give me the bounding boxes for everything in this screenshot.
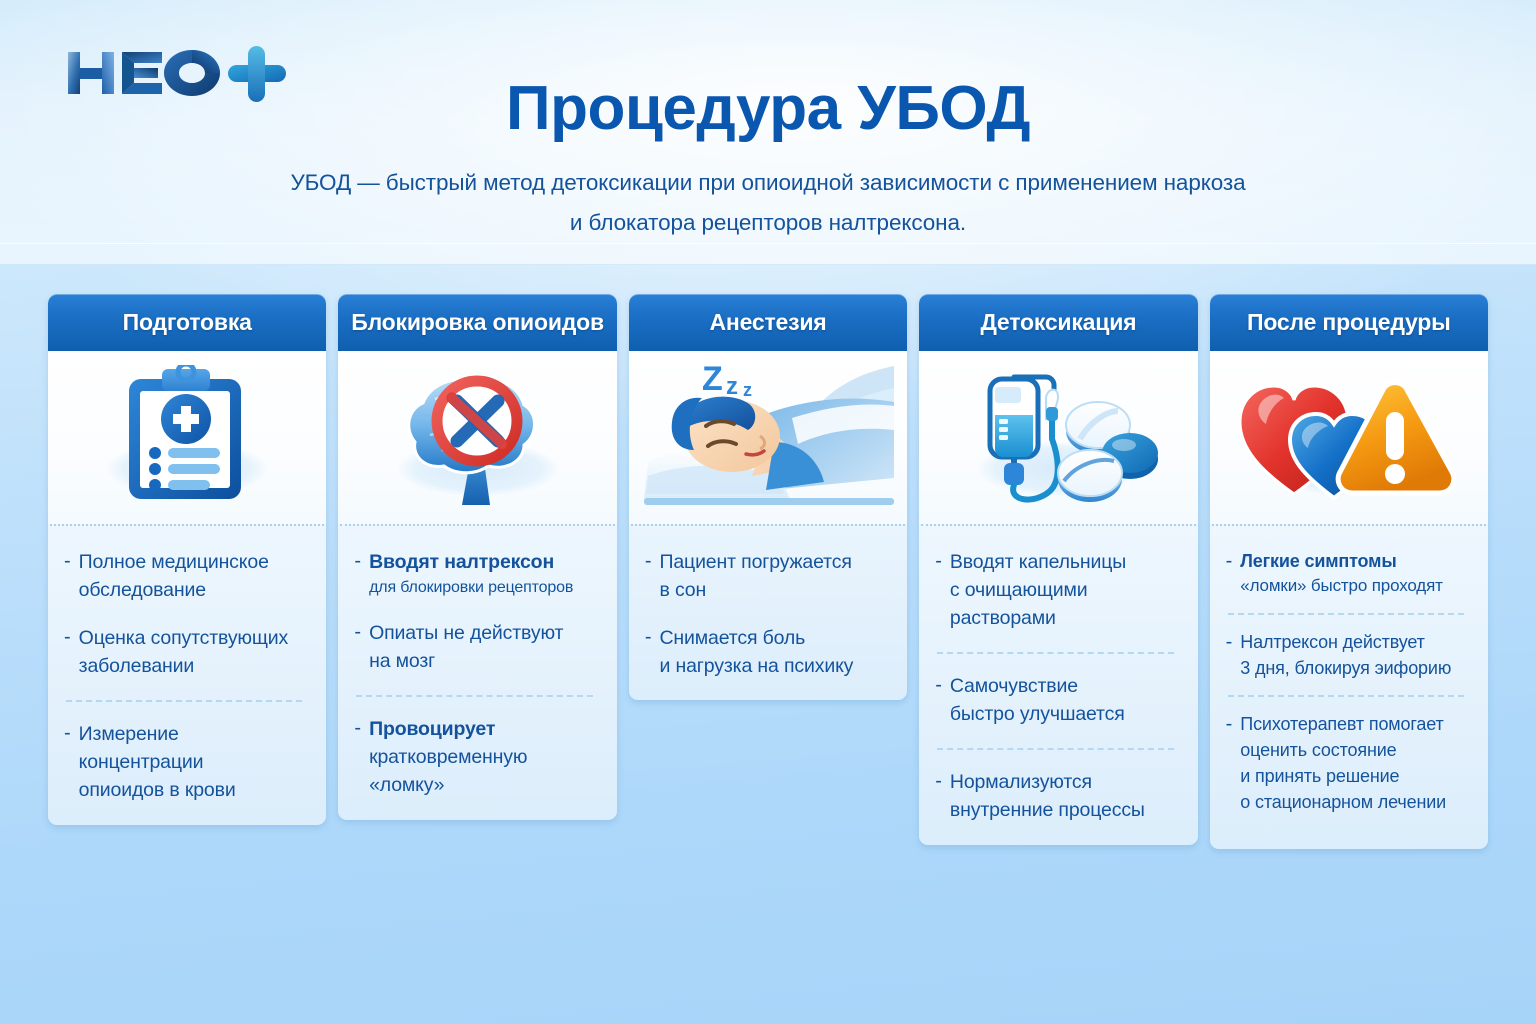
list-item: - Снимается боль и нагрузка на психику: [645, 624, 889, 680]
header-divider-line-secondary: [0, 264, 1536, 265]
bullet-marker: -: [1226, 548, 1233, 576]
subtitle-line-1: УБОД — быстрый метод детоксикации при оп…: [0, 163, 1536, 203]
list-item: - Легкие симптомы «ломки» быстро проходя…: [1226, 548, 1470, 599]
list-item: - Вводят налтрексон для блокировки рецеп…: [354, 548, 598, 599]
list-item-text: Снимается боль и нагрузка на психику: [659, 624, 853, 680]
card-title: Детоксикация: [980, 309, 1136, 336]
list-item-text: Опиаты не действуют на мозг: [369, 619, 563, 675]
bullet-marker: -: [935, 548, 942, 576]
list-item-text: Вводят налтрексон для блокировки рецепто…: [369, 548, 573, 599]
list-item-text: Нормализуются внутренние процессы: [950, 768, 1145, 824]
text-line: Нормализуются: [950, 768, 1145, 796]
bullet-marker: -: [354, 715, 361, 743]
item-divider: [66, 700, 302, 702]
text-line: оценить состояние: [1240, 737, 1446, 763]
text-line: Оценка сопутствующих: [79, 624, 288, 652]
bullet-marker: -: [645, 548, 652, 576]
list-item: - Самочувствие быстро улучшается: [935, 672, 1179, 728]
card-preparation[interactable]: Подготовка: [48, 294, 326, 825]
list-item-text: Оценка сопутствующих заболевании: [79, 624, 288, 680]
list-item: - Налтрексон действует 3 дня, блокируя э…: [1226, 629, 1470, 681]
iv-drip-pills-icon: [958, 363, 1158, 513]
card-header-opioid-blocking: Блокировка опиоидов: [338, 294, 616, 351]
bullet-marker: -: [354, 548, 361, 576]
text-line: Провоцирует: [369, 715, 527, 743]
text-line: Самочувствие: [950, 672, 1125, 700]
svg-text:z: z: [743, 380, 752, 400]
bullet-marker: -: [645, 624, 652, 652]
list-item-text: Легкие симптомы «ломки» быстро проходят: [1240, 548, 1442, 599]
text-line: Налтрексон действует: [1240, 629, 1451, 655]
subtitle-line-2: и блокатора рецепторов налтрексона.: [0, 203, 1536, 243]
clipboard-medical-icon: [112, 365, 262, 510]
card-header-anesthesia: Анестезия: [629, 294, 907, 351]
svg-text:z: z: [726, 373, 738, 400]
text-line: внутренние процессы: [950, 796, 1145, 824]
bullet-marker: -: [935, 768, 942, 796]
card-opioid-blocking[interactable]: Блокировка опиоидов: [338, 294, 616, 820]
list-item-text: Провоцирует кратковременную «ломку»: [369, 715, 527, 799]
text-line: Легкие симптомы: [1240, 548, 1442, 574]
card-header-after-procedure: После процедуры: [1210, 294, 1488, 351]
list-item-text: Психотерапевт помогает оценить состояние…: [1240, 711, 1446, 815]
text-line: Пациент погружается: [659, 548, 851, 576]
text-line: растворами: [950, 604, 1126, 632]
item-divider: [356, 695, 592, 697]
sleeping-patient-icon: Z z z: [642, 358, 894, 518]
text-line-small: для блокировки рецепторов: [369, 576, 573, 599]
cards-row: Подготовка: [48, 294, 1488, 849]
list-item: - Полное медицинское обследование: [64, 548, 308, 604]
text-line: 3 дня, блокируя эифорию: [1240, 655, 1451, 681]
text-line: Опиаты не действуют: [369, 619, 563, 647]
bullet-marker: -: [354, 619, 361, 647]
text-line: в сон: [659, 576, 851, 604]
item-divider: [937, 748, 1173, 750]
brain-blocked-icon: [390, 365, 565, 510]
card-body-anesthesia: - Пациент погружается в сон - Снимается …: [629, 526, 907, 700]
text-line: Полное медицинское: [79, 548, 269, 576]
card-header-detoxification: Детоксикация: [919, 294, 1197, 351]
card-body-after-procedure: - Легкие симптомы «ломки» быстро проходя…: [1210, 526, 1488, 849]
text-line: Вводят налтрексон: [369, 548, 573, 576]
list-item: - Провоцирует кратковременную «ломку»: [354, 715, 598, 799]
text-line: обследование: [79, 576, 269, 604]
card-detoxification[interactable]: Детоксикация: [919, 294, 1197, 845]
text-line: и нагрузка на психику: [659, 652, 853, 680]
list-item: - Вводят капельницы с очищающими раствор…: [935, 548, 1179, 632]
header-divider-line: [0, 243, 1536, 244]
text-line: Психотерапевт помогает: [1240, 711, 1446, 737]
text-line: Измерение концентрации: [79, 720, 309, 776]
card-icon-area: [338, 351, 616, 524]
card-anesthesia[interactable]: Анестезия: [629, 294, 907, 700]
list-item: - Нормализуются внутренние процессы: [935, 768, 1179, 824]
list-item-text: Полное медицинское обследование: [79, 548, 269, 604]
text-line-small: «ломки» быстро проходят: [1240, 574, 1442, 599]
text-line: и принять решение: [1240, 763, 1446, 789]
card-body-opioid-blocking: - Вводят налтрексон для блокировки рецеп…: [338, 526, 616, 820]
card-title: Блокировка опиоидов: [351, 309, 604, 336]
bullet-marker: -: [1226, 629, 1233, 657]
card-body-detoxification: - Вводят капельницы с очищающими раствор…: [919, 526, 1197, 845]
bullet-marker: -: [64, 720, 71, 748]
text-line: о стационарном лечении: [1240, 789, 1446, 815]
card-icon-area: [48, 351, 326, 524]
card-header-preparation: Подготовка: [48, 294, 326, 351]
card-after-procedure[interactable]: После процедуры: [1210, 294, 1488, 849]
list-item-text: Самочувствие быстро улучшается: [950, 672, 1125, 728]
list-item-text: Пациент погружается в сон: [659, 548, 851, 604]
text-line: кратковременную: [369, 743, 527, 771]
item-divider: [1228, 695, 1464, 697]
hearts-warning-icon: [1234, 368, 1464, 508]
list-item: - Пациент погружается в сон: [645, 548, 889, 604]
list-item: - Психотерапевт помогает оценить состоян…: [1226, 711, 1470, 815]
page-subtitle: УБОД — быстрый метод детоксикации при оп…: [0, 163, 1536, 243]
card-icon-area: [919, 351, 1197, 524]
card-icon-area: [1210, 351, 1488, 524]
text-line: Вводят капельницы: [950, 548, 1126, 576]
card-title: Подготовка: [123, 309, 252, 336]
list-item-text: Измерение концентрации опиоидов в крови: [79, 720, 309, 804]
card-body-preparation: - Полное медицинское обследование - Оцен…: [48, 526, 326, 825]
list-item: - Оценка сопутствующих заболевании: [64, 624, 308, 680]
page-title: Процедура УБОД: [0, 76, 1536, 141]
list-item: - Опиаты не действуют на мозг: [354, 619, 598, 675]
bullet-marker: -: [64, 548, 71, 576]
card-title: После процедуры: [1247, 309, 1451, 336]
bullet-marker: -: [1226, 711, 1233, 739]
zzz-label: Z: [702, 360, 723, 398]
text-line: «ломку»: [369, 771, 527, 799]
item-divider: [937, 652, 1173, 654]
bullet-marker: -: [64, 624, 71, 652]
list-item-text: Налтрексон действует 3 дня, блокируя эиф…: [1240, 629, 1451, 681]
bullet-marker: -: [935, 672, 942, 700]
list-item: - Измерение концентрации опиоидов в кров…: [64, 720, 308, 804]
item-divider: [1228, 613, 1464, 615]
card-icon-area: Z z z: [629, 351, 907, 524]
text-line: опиоидов в крови: [79, 776, 309, 804]
text-line: с очищающими: [950, 576, 1126, 604]
text-line: на мозг: [369, 647, 563, 675]
list-item-text: Вводят капельницы с очищающими растворам…: [950, 548, 1126, 632]
text-line: быстро улучшается: [950, 700, 1125, 728]
text-line: Снимается боль: [659, 624, 853, 652]
card-title: Анестезия: [710, 309, 827, 336]
text-line: заболевании: [79, 652, 288, 680]
